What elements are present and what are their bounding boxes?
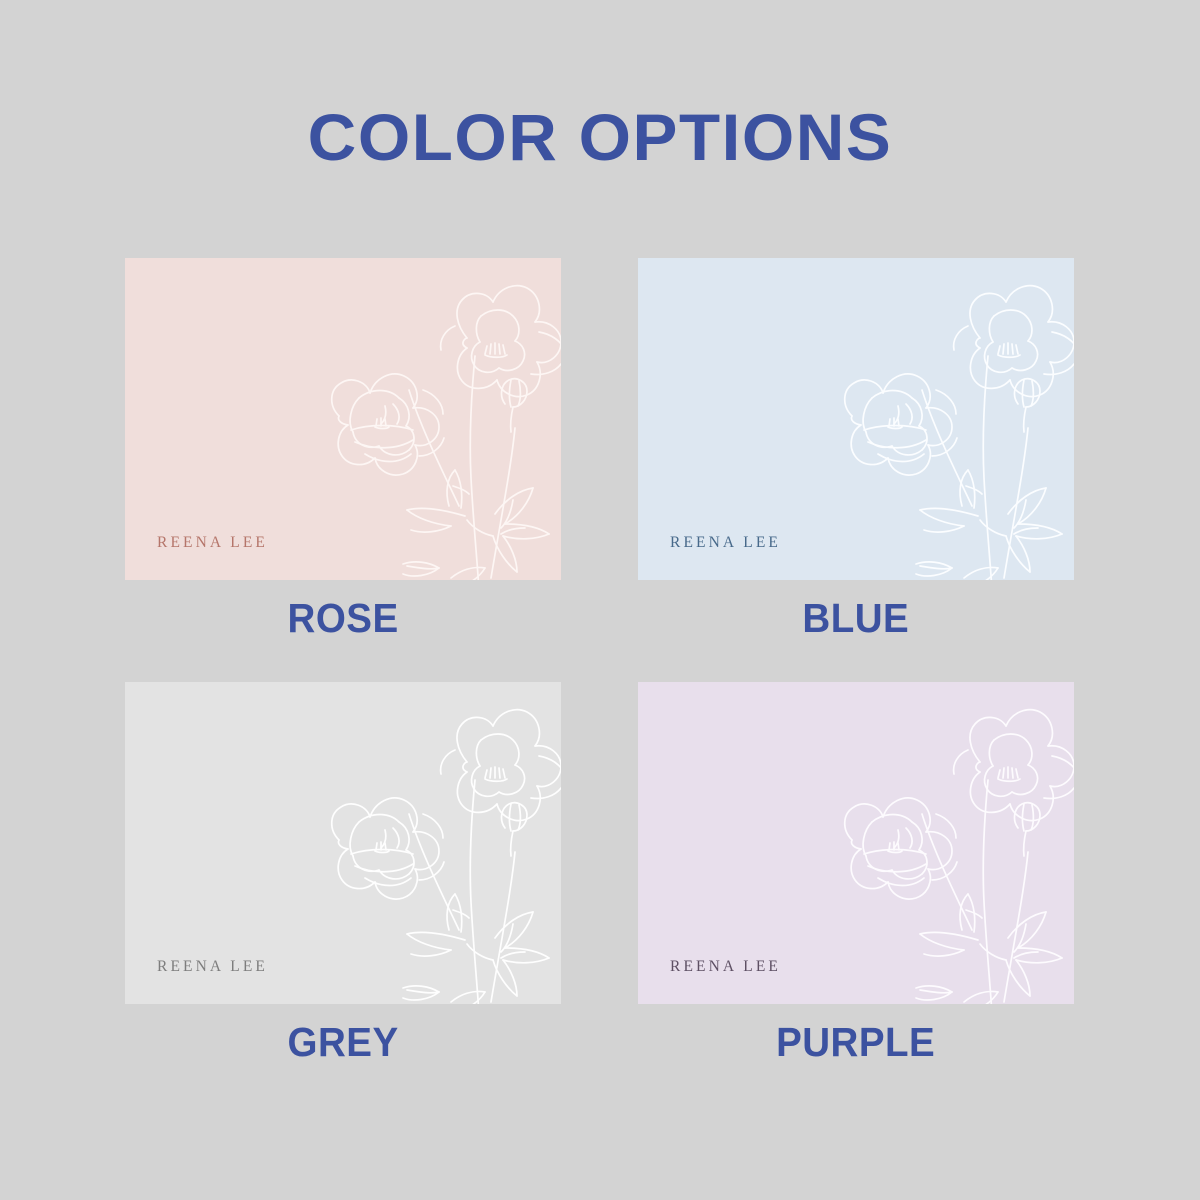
color-options-grid: REENA LEE ROSE — [125, 258, 1075, 1063]
swatch-option-blue[interactable]: REENA LEE BLUE — [638, 258, 1074, 639]
page-title: COLOR OPTIONS — [0, 104, 1200, 170]
poppy-line-art-icon — [299, 702, 561, 1004]
brand-name: REENA LEE — [670, 534, 781, 552]
swatch-label-grey: GREY — [287, 1022, 398, 1063]
brand-name: REENA LEE — [670, 958, 781, 976]
swatch-label-blue: BLUE — [803, 598, 910, 639]
swatch-option-rose[interactable]: REENA LEE ROSE — [125, 258, 561, 639]
poppy-line-art-icon — [812, 278, 1074, 580]
card-preview-blue[interactable]: REENA LEE — [638, 258, 1074, 580]
swatch-option-purple[interactable]: REENA LEE PURPLE — [638, 682, 1074, 1063]
poppy-line-art-icon — [812, 702, 1074, 1004]
swatch-label-purple: PURPLE — [776, 1022, 935, 1063]
card-preview-grey[interactable]: REENA LEE — [125, 682, 561, 1004]
brand-name: REENA LEE — [157, 958, 268, 976]
swatch-label-rose: ROSE — [287, 598, 398, 639]
card-preview-purple[interactable]: REENA LEE — [638, 682, 1074, 1004]
brand-name: REENA LEE — [157, 534, 268, 552]
card-preview-rose[interactable]: REENA LEE — [125, 258, 561, 580]
poppy-line-art-icon — [299, 278, 561, 580]
swatch-option-grey[interactable]: REENA LEE GREY — [125, 682, 561, 1063]
